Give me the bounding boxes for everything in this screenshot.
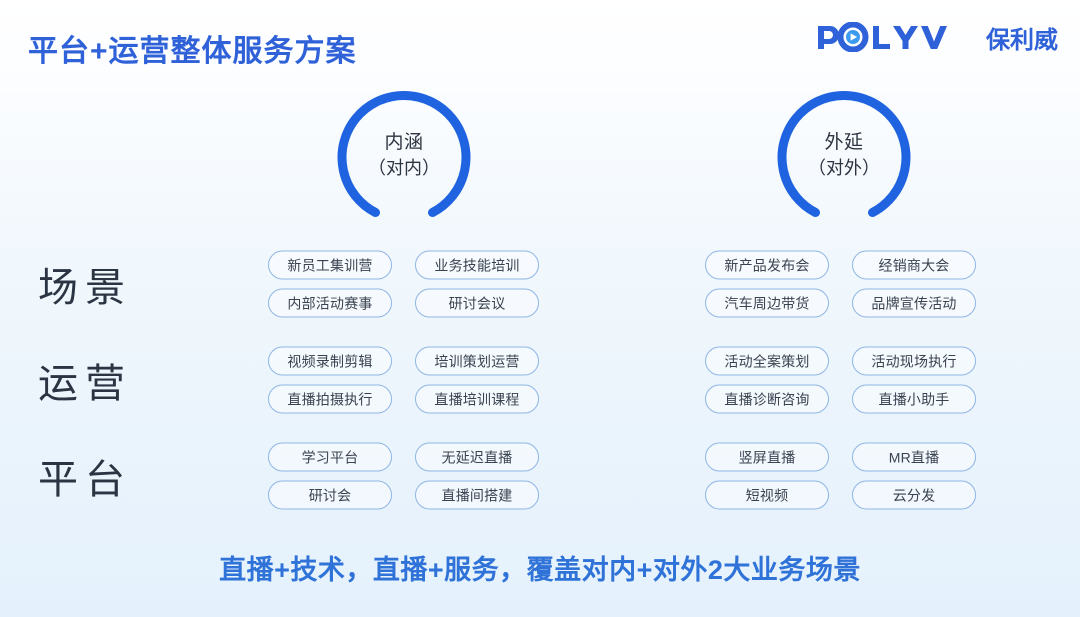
row-platform-inner-group: 学习平台 无延迟直播 研讨会 直播间搭建 (268, 443, 539, 510)
pill-item[interactable]: 无延迟直播 (415, 443, 539, 472)
row-platform-outer-group: 竖屏直播 MR直播 短视频 云分发 (705, 443, 976, 510)
matrix-row-scene: 场景 新员工集训营 业务技能培训 内部活动赛事 研讨会议 新产品发布会 经销商大… (0, 236, 1080, 332)
pill-item[interactable]: 竖屏直播 (705, 443, 829, 472)
page-title: 平台+运营整体服务方案 (28, 26, 357, 70)
pill-row: 研讨会 直播间搭建 (268, 481, 539, 510)
pill-item[interactable]: 视频录制剪辑 (268, 347, 392, 376)
pill-item[interactable]: 经销商大会 (852, 251, 976, 280)
slide-canvas: 平台+运营整体服务方案 保利威 内涵 （对内） (0, 0, 1080, 617)
pill-item[interactable]: 云分发 (852, 481, 976, 510)
polyv-logo-icon (816, 22, 988, 52)
pill-row: 视频录制剪辑 培训策划运营 (268, 347, 539, 376)
row-scene-inner-group: 新员工集训营 业务技能培训 内部活动赛事 研讨会议 (268, 251, 539, 318)
pill-item[interactable]: 活动全案策划 (705, 347, 829, 376)
badge-outer-subtitle: （对外） (808, 157, 880, 181)
row-operations-inner-group: 视频录制剪辑 培训策划运营 直播拍摄执行 直播培训课程 (268, 347, 539, 414)
row-label-platform: 平台 (38, 447, 132, 505)
brand-logo: 保利威 (816, 22, 1058, 52)
pill-row: 新产品发布会 经销商大会 (705, 251, 976, 280)
pill-item[interactable]: 新员工集训营 (268, 251, 392, 280)
pill-row: 短视频 云分发 (705, 481, 976, 510)
pill-row: 汽车周边带货 品牌宣传活动 (705, 289, 976, 318)
row-label-scene: 场景 (38, 255, 132, 313)
row-operations-outer-group: 活动全案策划 活动现场执行 直播诊断咨询 直播小助手 (705, 347, 976, 414)
pill-row: 活动全案策划 活动现场执行 (705, 347, 976, 376)
pill-item[interactable]: 短视频 (705, 481, 829, 510)
badge-inner-title: 内涵 (384, 130, 423, 155)
badge-outer: 外延 （对外） (768, 88, 920, 228)
badge-inner: 内涵 （对内） (328, 88, 480, 228)
pill-item[interactable]: 培训策划运营 (415, 347, 539, 376)
badge-outer-title: 外延 (824, 130, 863, 155)
pill-item[interactable]: 研讨会 (268, 481, 392, 510)
pill-item[interactable]: 品牌宣传活动 (852, 289, 976, 318)
pill-item[interactable]: MR直播 (852, 443, 976, 472)
pill-item[interactable]: 研讨会议 (415, 289, 539, 318)
logo-cn-name: 保利威 (986, 20, 1058, 55)
pill-row: 新员工集训营 业务技能培训 (268, 251, 539, 280)
service-matrix: 场景 新员工集训营 业务技能培训 内部活动赛事 研讨会议 新产品发布会 经销商大… (0, 236, 1080, 524)
pill-item[interactable]: 活动现场执行 (852, 347, 976, 376)
row-scene-outer-group: 新产品发布会 经销商大会 汽车周边带货 品牌宣传活动 (705, 251, 976, 318)
pill-row: 竖屏直播 MR直播 (705, 443, 976, 472)
matrix-row-platform: 平台 学习平台 无延迟直播 研讨会 直播间搭建 竖屏直播 MR直播 短视频 (0, 428, 1080, 524)
pill-item[interactable]: 直播间搭建 (415, 481, 539, 510)
pill-row: 直播诊断咨询 直播小助手 (705, 385, 976, 414)
pill-item[interactable]: 直播诊断咨询 (705, 385, 829, 414)
pill-item[interactable]: 直播小助手 (852, 385, 976, 414)
pill-row: 内部活动赛事 研讨会议 (268, 289, 539, 318)
pill-row: 直播拍摄执行 直播培训课程 (268, 385, 539, 414)
badge-inner-label: 内涵 （对内） (328, 88, 480, 228)
pill-item[interactable]: 直播培训课程 (415, 385, 539, 414)
badge-inner-subtitle: （对内） (368, 157, 440, 181)
pill-item[interactable]: 业务技能培训 (415, 251, 539, 280)
footer-caption: 直播+技术，直播+服务，覆盖对内+对外2大业务场景 (0, 548, 1080, 587)
pill-item[interactable]: 学习平台 (268, 443, 392, 472)
pill-item[interactable]: 内部活动赛事 (268, 289, 392, 318)
pill-item[interactable]: 直播拍摄执行 (268, 385, 392, 414)
pill-item[interactable]: 新产品发布会 (705, 251, 829, 280)
pill-item[interactable]: 汽车周边带货 (705, 289, 829, 318)
row-label-operations: 运营 (38, 351, 132, 409)
pill-row: 学习平台 无延迟直播 (268, 443, 539, 472)
matrix-row-operations: 运营 视频录制剪辑 培训策划运营 直播拍摄执行 直播培训课程 活动全案策划 活动… (0, 332, 1080, 428)
badge-outer-label: 外延 （对外） (768, 88, 920, 228)
